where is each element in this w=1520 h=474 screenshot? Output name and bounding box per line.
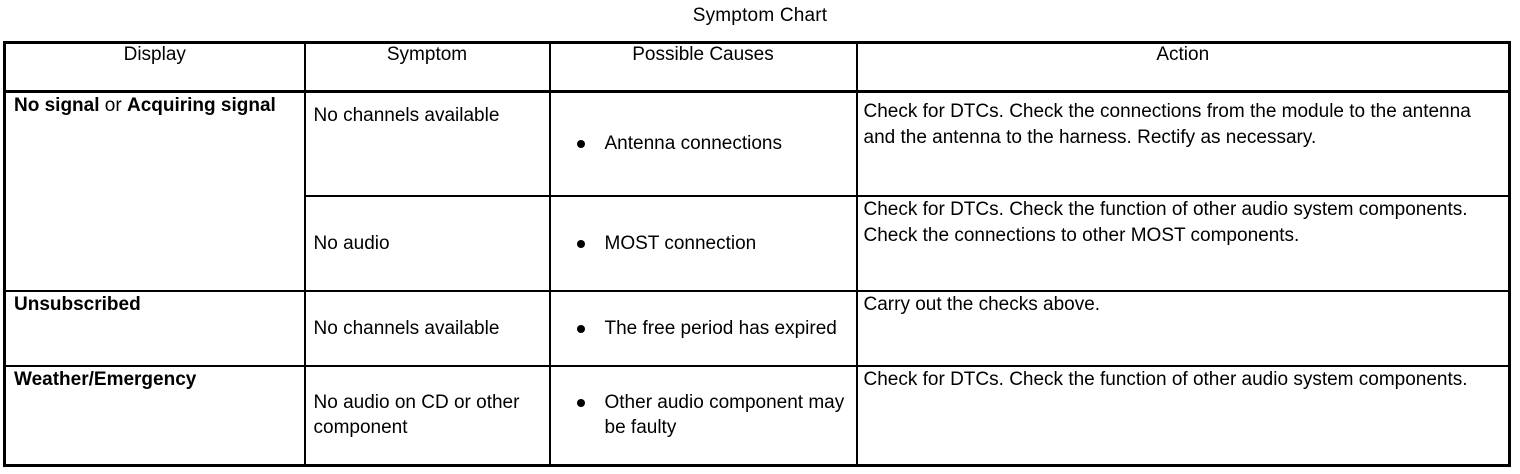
bullet-icon bbox=[577, 240, 585, 248]
symptom-chart-table: Display Symptom Possible Causes Action bbox=[3, 41, 1511, 467]
column-header-action-label: Action bbox=[858, 44, 1509, 66]
display-bold-acquiring-signal: Acquiring signal bbox=[127, 95, 276, 116]
list-item: The free period has expired bbox=[559, 316, 850, 341]
causes-container: Antenna connections bbox=[551, 131, 856, 156]
cell-action-row3: Carry out the checks above. bbox=[857, 291, 1510, 366]
column-header-symptom-label: Symptom bbox=[306, 44, 549, 66]
table-row: Unsubscribed No channels available The f… bbox=[5, 291, 1510, 366]
cause-list: Antenna connections bbox=[559, 131, 850, 156]
symptom-text: No audio bbox=[306, 231, 549, 256]
cell-symptom-no-audio-cd: No audio on CD or other component bbox=[305, 366, 550, 466]
column-header-possible-causes: Possible Causes bbox=[550, 43, 857, 92]
causes-container: Other audio component may be faulty bbox=[551, 390, 856, 440]
list-item: MOST connection bbox=[559, 231, 850, 256]
symptom-chart-page: Symptom Chart Display Symptom Poss bbox=[0, 0, 1520, 474]
cell-action-row1: Check for DTCs. Check the connections fr… bbox=[857, 92, 1510, 196]
display-bold-unsubscribed: Unsubscribed bbox=[14, 294, 141, 315]
table-header-row: Display Symptom Possible Causes Action bbox=[5, 43, 1510, 92]
cell-display-no-signal: No signal or Acquiring signal bbox=[5, 92, 305, 291]
display-text-no-signal: No signal or Acquiring signal bbox=[6, 93, 304, 118]
display-normal-or: or bbox=[100, 95, 127, 116]
symptom-text: No audio on CD or other component bbox=[306, 390, 549, 440]
page-title: Symptom Chart bbox=[0, 4, 1520, 28]
table-header: Display Symptom Possible Causes Action bbox=[5, 43, 1510, 92]
cell-causes-other-audio-component-faulty: Other audio component may be faulty bbox=[550, 366, 857, 466]
display-bold-weather-emergency: Weather/Emergency bbox=[14, 369, 196, 390]
bullet-icon bbox=[577, 140, 585, 148]
action-text: Check for DTCs. Check the function of ot… bbox=[858, 197, 1509, 249]
cause-list: MOST connection bbox=[559, 231, 850, 256]
cause-text: Other audio component may be faulty bbox=[605, 392, 845, 438]
cell-action-row2: Check for DTCs. Check the function of ot… bbox=[857, 196, 1510, 291]
table-row: Weather/Emergency No audio on CD or othe… bbox=[5, 366, 1510, 466]
bullet-icon bbox=[577, 325, 585, 333]
cell-causes-free-period-expired: The free period has expired bbox=[550, 291, 857, 366]
display-text-unsubscribed: Unsubscribed bbox=[6, 292, 304, 317]
cause-text: The free period has expired bbox=[605, 318, 837, 339]
cause-text: MOST connection bbox=[605, 233, 757, 254]
causes-container: MOST connection bbox=[551, 231, 856, 256]
cell-action-row4: Check for DTCs. Check the function of ot… bbox=[857, 366, 1510, 466]
display-text-weather-emergency: Weather/Emergency bbox=[6, 367, 304, 392]
cause-text: Antenna connections bbox=[605, 133, 782, 154]
column-header-display-label: Display bbox=[6, 44, 304, 66]
column-header-display: Display bbox=[5, 43, 305, 92]
cell-symptom-no-channels-available: No channels available bbox=[305, 92, 550, 196]
action-text: Carry out the checks above. bbox=[858, 292, 1509, 318]
cell-display-unsubscribed: Unsubscribed bbox=[5, 291, 305, 366]
symptom-text: No channels available bbox=[306, 316, 549, 341]
symptom-chart-table-wrapper: Display Symptom Possible Causes Action bbox=[3, 41, 1508, 467]
list-item: Antenna connections bbox=[559, 131, 850, 156]
column-header-symptom: Symptom bbox=[305, 43, 550, 92]
cell-causes-antenna-connections: Antenna connections bbox=[550, 92, 857, 196]
bullet-icon bbox=[577, 399, 585, 407]
table-body: No signal or Acquiring signal No channel… bbox=[5, 92, 1510, 466]
table-row: No signal or Acquiring signal No channel… bbox=[5, 92, 1510, 196]
list-item: Other audio component may be faulty bbox=[559, 390, 850, 440]
column-header-action: Action bbox=[857, 43, 1510, 92]
symptom-text: No channels available bbox=[306, 93, 549, 128]
causes-container: The free period has expired bbox=[551, 316, 856, 341]
display-bold-no-signal: No signal bbox=[14, 95, 100, 116]
cause-list: Other audio component may be faulty bbox=[559, 390, 850, 440]
column-header-possible-causes-label: Possible Causes bbox=[551, 44, 856, 66]
cell-causes-most-connection: MOST connection bbox=[550, 196, 857, 291]
action-text: Check for DTCs. Check the function of ot… bbox=[858, 367, 1509, 393]
cell-symptom-no-audio: No audio bbox=[305, 196, 550, 291]
action-text: Check for DTCs. Check the connections fr… bbox=[858, 93, 1509, 151]
cell-symptom-no-channels-available-2: No channels available bbox=[305, 291, 550, 366]
cell-display-weather-emergency: Weather/Emergency bbox=[5, 366, 305, 466]
cause-list: The free period has expired bbox=[559, 316, 850, 341]
